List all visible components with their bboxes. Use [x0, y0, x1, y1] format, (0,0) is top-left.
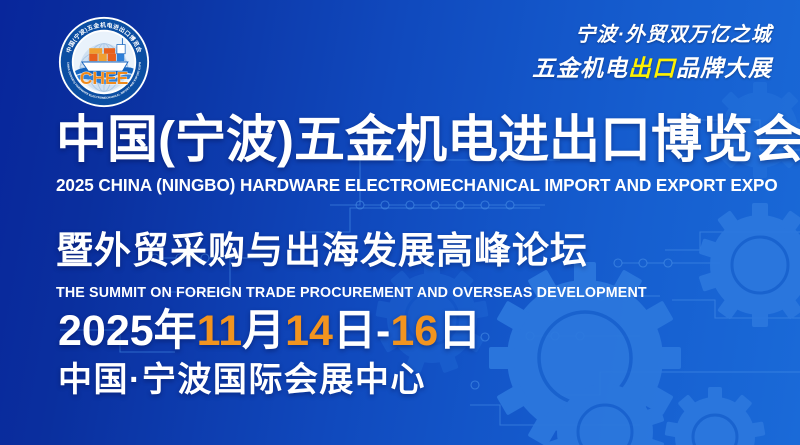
event-year: 2025: [58, 307, 154, 355]
tagline-line-2-before: 五金机电: [532, 55, 628, 81]
event-year-unit: 年: [154, 307, 197, 355]
subtitle-chinese: 暨外贸采购与出海发展高峰论坛: [56, 220, 780, 274]
event-day-end-unit: 日: [438, 307, 481, 355]
gear-bottom-right: [665, 387, 766, 445]
event-day-end: 16: [390, 307, 438, 355]
tagline-line-2-highlight: 出口: [628, 55, 676, 81]
event-date: 2025年11月14日-16日: [58, 296, 481, 358]
logo-acronym: CHEE: [80, 68, 129, 88]
event-month-unit: 月: [242, 307, 285, 355]
tagline-line-1: 宁波·外贸双万亿之城: [532, 22, 772, 48]
tagline-line-2-after: 品牌大展: [676, 55, 772, 81]
tagline-line-2: 五金机电出口品牌大展: [532, 53, 772, 83]
chee-logo: CHEE 中国(宁波)五金机电进出口博览会 CHINA (NINGBO) HAR…: [58, 16, 150, 108]
expo-banner: CHEE 中国(宁波)五金机电进出口博览会 CHINA (NINGBO) HAR…: [0, 0, 800, 445]
event-venue: 中国·宁波国际会展中心: [58, 352, 426, 401]
event-month: 11: [197, 307, 242, 355]
title-english: 2025 CHINA (NINGBO) HARDWARE ELECTROMECH…: [56, 175, 769, 196]
tagline: 宁波·外贸双万亿之城 五金机电出口品牌大展: [532, 22, 772, 84]
gear-lower-left: [545, 372, 664, 445]
headline-block: 中国(宁波)五金机电进出口博览会 2025 CHINA (NINGBO) HAR…: [56, 112, 780, 301]
event-day-start: 14: [285, 307, 333, 355]
event-date-dash: -: [376, 307, 390, 355]
title-chinese: 中国(宁波)五金机电进出口博览会: [56, 112, 780, 167]
event-day-start-unit: 日: [333, 307, 376, 355]
